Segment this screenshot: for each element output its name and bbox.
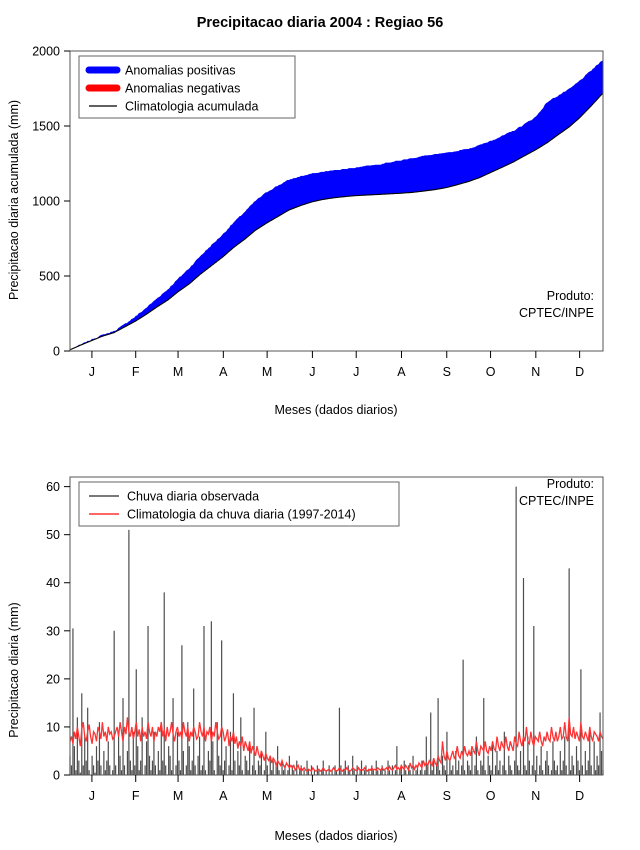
- top-x-tick-label: A: [219, 365, 228, 379]
- top-annotation-source: CPTEC/INPE: [519, 306, 594, 320]
- bottom-legend: Chuva diaria observadaClimatologia da ch…: [79, 482, 399, 526]
- bottom-x-tick-label: M: [262, 789, 272, 803]
- daily-chart-svg: Precipitacao diaria (mm) Meses (dados di…: [0, 430, 640, 850]
- bottom-x-tick-label: N: [531, 789, 540, 803]
- bottom-x-tick-label: O: [486, 789, 496, 803]
- bottom-y-tick-label: 50: [46, 528, 60, 542]
- bottom-x-tick-label: S: [443, 789, 451, 803]
- top-x-tick-label: D: [575, 365, 584, 379]
- top-x-tick-label: F: [132, 365, 140, 379]
- bottom-y-tick-label: 60: [46, 480, 60, 494]
- bottom-x-tick-label: D: [575, 789, 584, 803]
- top-x-axis-label: Meses (dados diarios): [275, 403, 398, 417]
- top-annotation-produto: Produto:: [547, 289, 594, 303]
- bottom-y-tick-label: 20: [46, 672, 60, 686]
- bottom-x-tick-label: F: [132, 789, 140, 803]
- bottom-y-axis-label: Precipitacao diaria (mm): [7, 602, 21, 737]
- bottom-x-axis-label: Meses (dados diarios): [275, 829, 398, 843]
- bottom-x-tick-label: J: [89, 789, 95, 803]
- bottom-y-tick-label: 0: [53, 769, 60, 783]
- legend-label-0: Chuva diaria observada: [127, 490, 259, 504]
- top-y-tick-label: 1000: [32, 195, 60, 209]
- top-y-tick-label: 0: [53, 345, 60, 359]
- accumulated-precipitation-figure: Precipitacao diaria 2004 : Regiao 56 Pre…: [0, 0, 640, 430]
- top-y-tick-label: 2000: [32, 45, 60, 59]
- top-x-tick-label: M: [173, 365, 183, 379]
- bottom-y-tick-label: 30: [46, 624, 60, 638]
- top-x-tick-label: J: [309, 365, 315, 379]
- legend-label-0: Anomalias positivas: [125, 64, 235, 78]
- bottom-x-tick-label: J: [309, 789, 315, 803]
- legend-label-2: Climatologia acumulada: [125, 100, 258, 114]
- page-title: Precipitacao diaria 2004 : Regiao 56: [197, 15, 444, 31]
- bottom-y-tick-label: 10: [46, 720, 60, 734]
- top-x-tick-label: A: [397, 365, 406, 379]
- top-x-tick-label: S: [443, 365, 451, 379]
- top-y-tick-label: 500: [39, 270, 60, 284]
- top-x-tick-label: J: [353, 365, 359, 379]
- top-x-tick-label: M: [262, 365, 272, 379]
- bottom-x-tick-label: A: [397, 789, 406, 803]
- top-x-tick-label: N: [531, 365, 540, 379]
- top-y-tick-label: 1500: [32, 120, 60, 134]
- bottom-x-tick-label: A: [219, 789, 228, 803]
- bottom-y-tick-label: 40: [46, 576, 60, 590]
- top-legend: Anomalias positivasAnomalias negativasCl…: [79, 56, 295, 118]
- top-y-axis-label: Precipitacao diaria acumulada (mm): [7, 100, 21, 300]
- accumulated-chart-svg: Precipitacao diaria 2004 : Regiao 56 Pre…: [0, 0, 640, 430]
- top-x-tick-label: J: [89, 365, 95, 379]
- bottom-annotation-source: CPTEC/INPE: [519, 494, 594, 508]
- bottom-x-tick-label: J: [353, 789, 359, 803]
- legend-label-1: Climatologia da chuva diaria (1997-2014): [127, 508, 356, 522]
- bottom-x-tick-label: M: [173, 789, 183, 803]
- bottom-annotation-produto: Produto:: [547, 477, 594, 491]
- legend-label-1: Anomalias negativas: [125, 82, 240, 96]
- top-x-tick-label: O: [486, 365, 496, 379]
- daily-precipitation-figure: Precipitacao diaria (mm) Meses (dados di…: [0, 430, 640, 850]
